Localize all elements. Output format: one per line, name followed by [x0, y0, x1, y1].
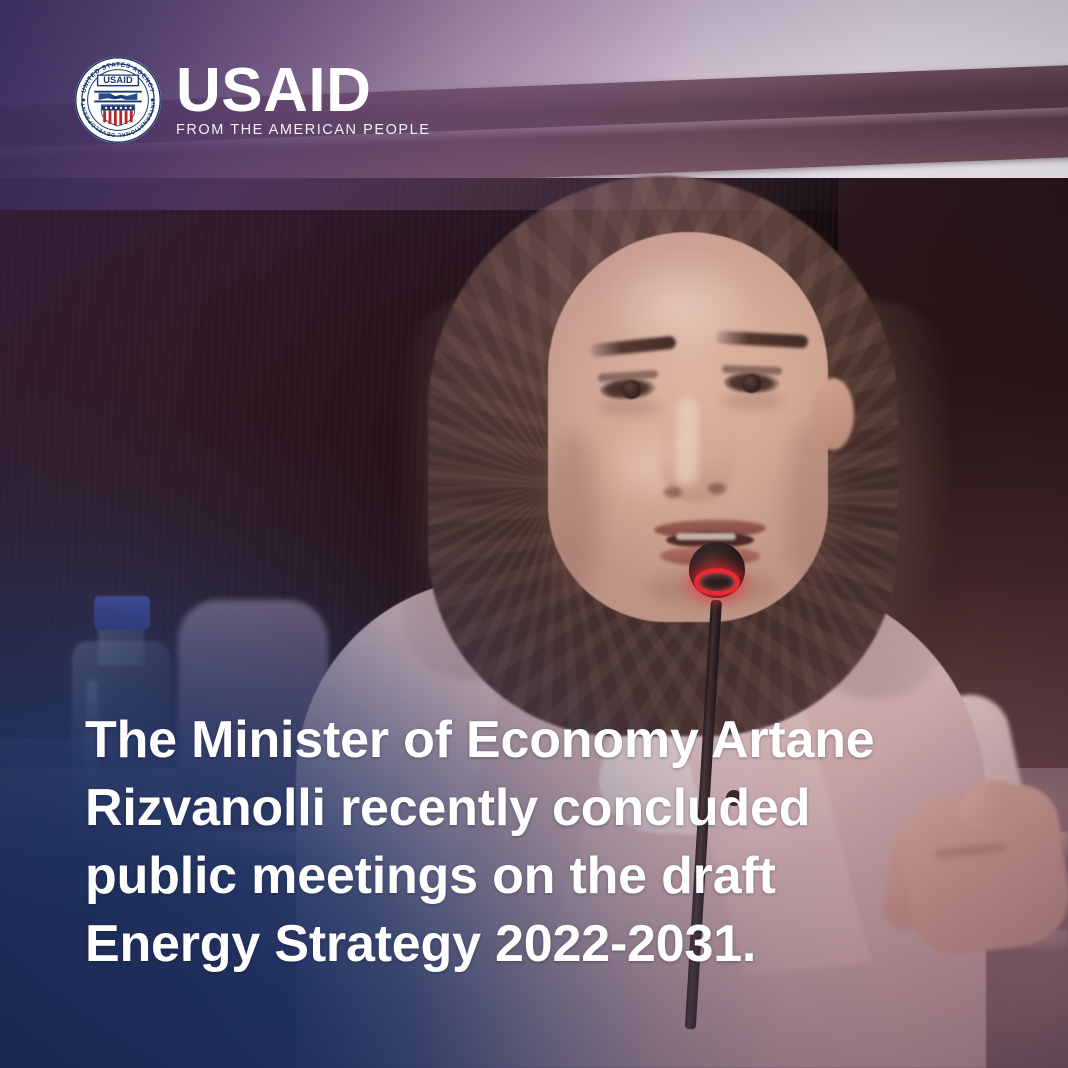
usaid-logo-lockup: UNITED STATES AGENCY INTERNATIONAL DEVEL…: [74, 56, 430, 144]
svg-text:USAID: USAID: [103, 75, 133, 85]
headline-text: The Minister of Economy Artane Rizvanoll…: [85, 706, 945, 978]
usaid-wordmark: USAID FROM THE AMERICAN PEOPLE: [176, 62, 430, 138]
usaid-name: USAID: [176, 62, 371, 119]
usaid-tagline: FROM THE AMERICAN PEOPLE: [176, 122, 430, 138]
social-media-card: UNITED STATES AGENCY INTERNATIONAL DEVEL…: [0, 0, 1068, 1068]
usaid-seal-icon: UNITED STATES AGENCY INTERNATIONAL DEVEL…: [74, 56, 162, 144]
